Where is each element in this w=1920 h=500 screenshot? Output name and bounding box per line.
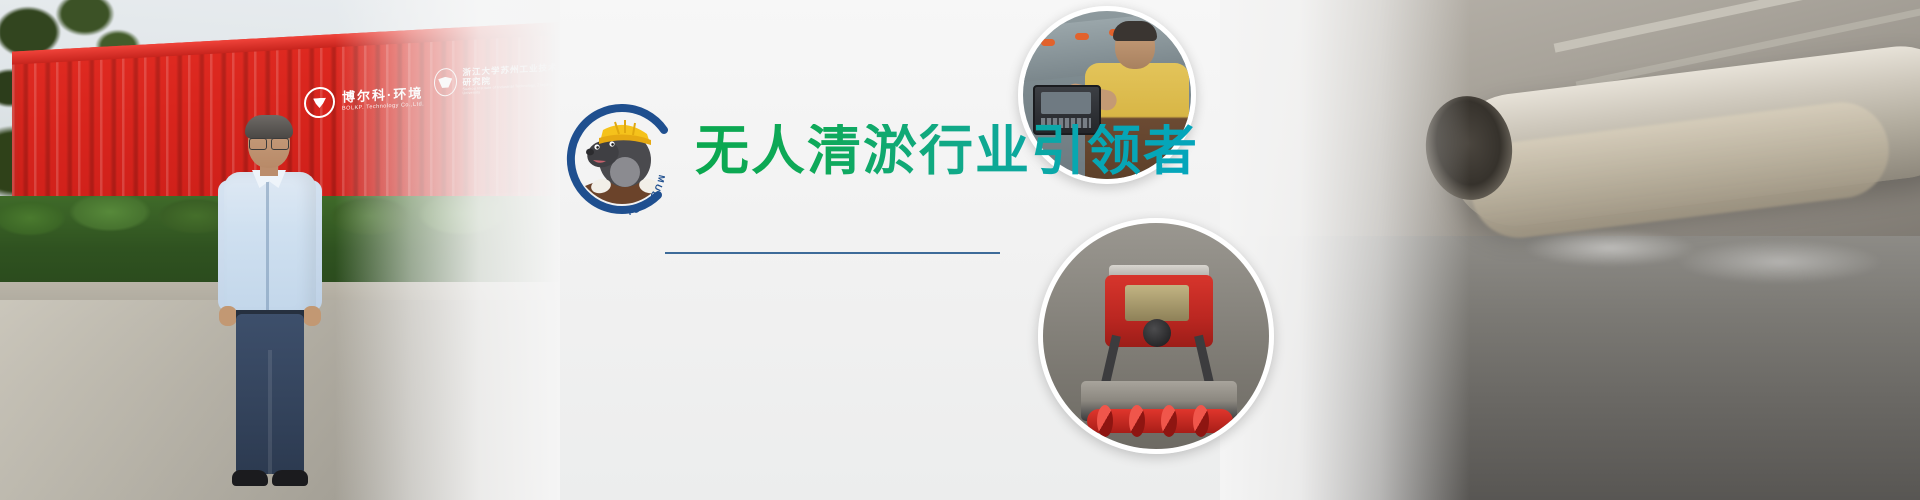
auger-flight — [1097, 405, 1113, 437]
foam — [1520, 218, 1920, 298]
shirt-placket — [266, 182, 269, 312]
left-hand — [219, 306, 237, 326]
float-marker — [1075, 33, 1089, 40]
auger-flight — [1161, 405, 1177, 437]
left-photo-fade — [335, 0, 560, 500]
robot-wheel — [1143, 319, 1171, 347]
console-screen — [1041, 92, 1091, 114]
right-hand — [303, 306, 321, 326]
auger-screw — [1087, 409, 1233, 433]
right-photo — [1220, 0, 1920, 500]
left-shoe — [232, 470, 268, 486]
auger-flight — [1193, 405, 1209, 437]
leg-split — [268, 350, 272, 474]
mud-mole-logo: MUD MOLE — [563, 100, 681, 218]
brand-seal-icon — [304, 86, 335, 119]
glasses-icon — [249, 138, 289, 148]
center-content: MUD MOLE 无人清淤行业引领者 — [545, 0, 1025, 500]
hair — [245, 115, 293, 139]
hero-banner: 博尔科·环境 BOLKP. Technology Co.,Ltd. 浙江大学苏州… — [0, 0, 1920, 500]
dredging-robot-photo — [1038, 218, 1274, 454]
operator-hair — [1113, 21, 1157, 41]
title-divider — [665, 252, 1000, 254]
robot-equipment-bay — [1125, 285, 1189, 321]
shirt — [224, 172, 316, 318]
person-figure — [218, 118, 322, 500]
float-marker — [1041, 39, 1055, 46]
auger-flight — [1129, 405, 1145, 437]
right-shoe — [272, 470, 308, 486]
page-title: 无人清淤行业引领者 — [695, 124, 1199, 178]
left-photo: 博尔科·环境 BOLKP. Technology Co.,Ltd. 浙江大学苏州… — [0, 0, 560, 500]
